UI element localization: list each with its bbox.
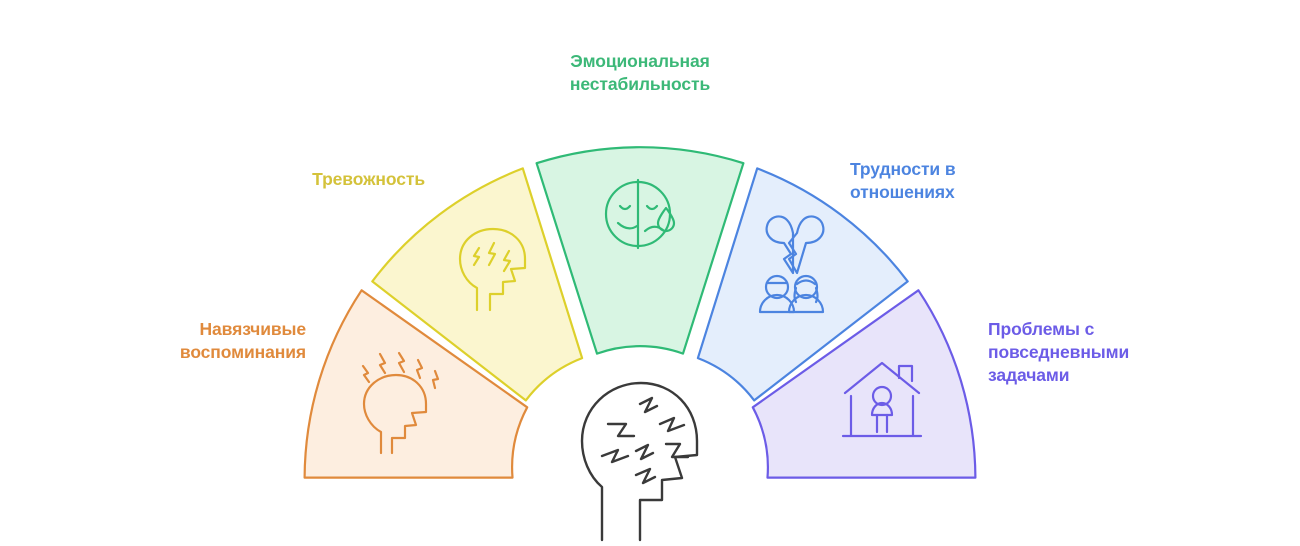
label-emotional-instability: Эмоциональная нестабильность: [520, 50, 760, 96]
label-intrusive-memories: Навязчивые воспоминания: [64, 318, 306, 364]
label-relationship-difficulties: Трудности в отношениях: [850, 158, 1080, 204]
head-profile-with-chaotic-zigzags-icon: [582, 383, 697, 540]
label-anxiety: Тревожность: [205, 168, 425, 191]
infographic-root: Навязчивые воспоминания Тревожность Эмоц…: [0, 0, 1300, 546]
center-head-icon-group: [582, 383, 697, 540]
label-daily-tasks-problems: Проблемы с повседневными задачами: [988, 318, 1238, 387]
